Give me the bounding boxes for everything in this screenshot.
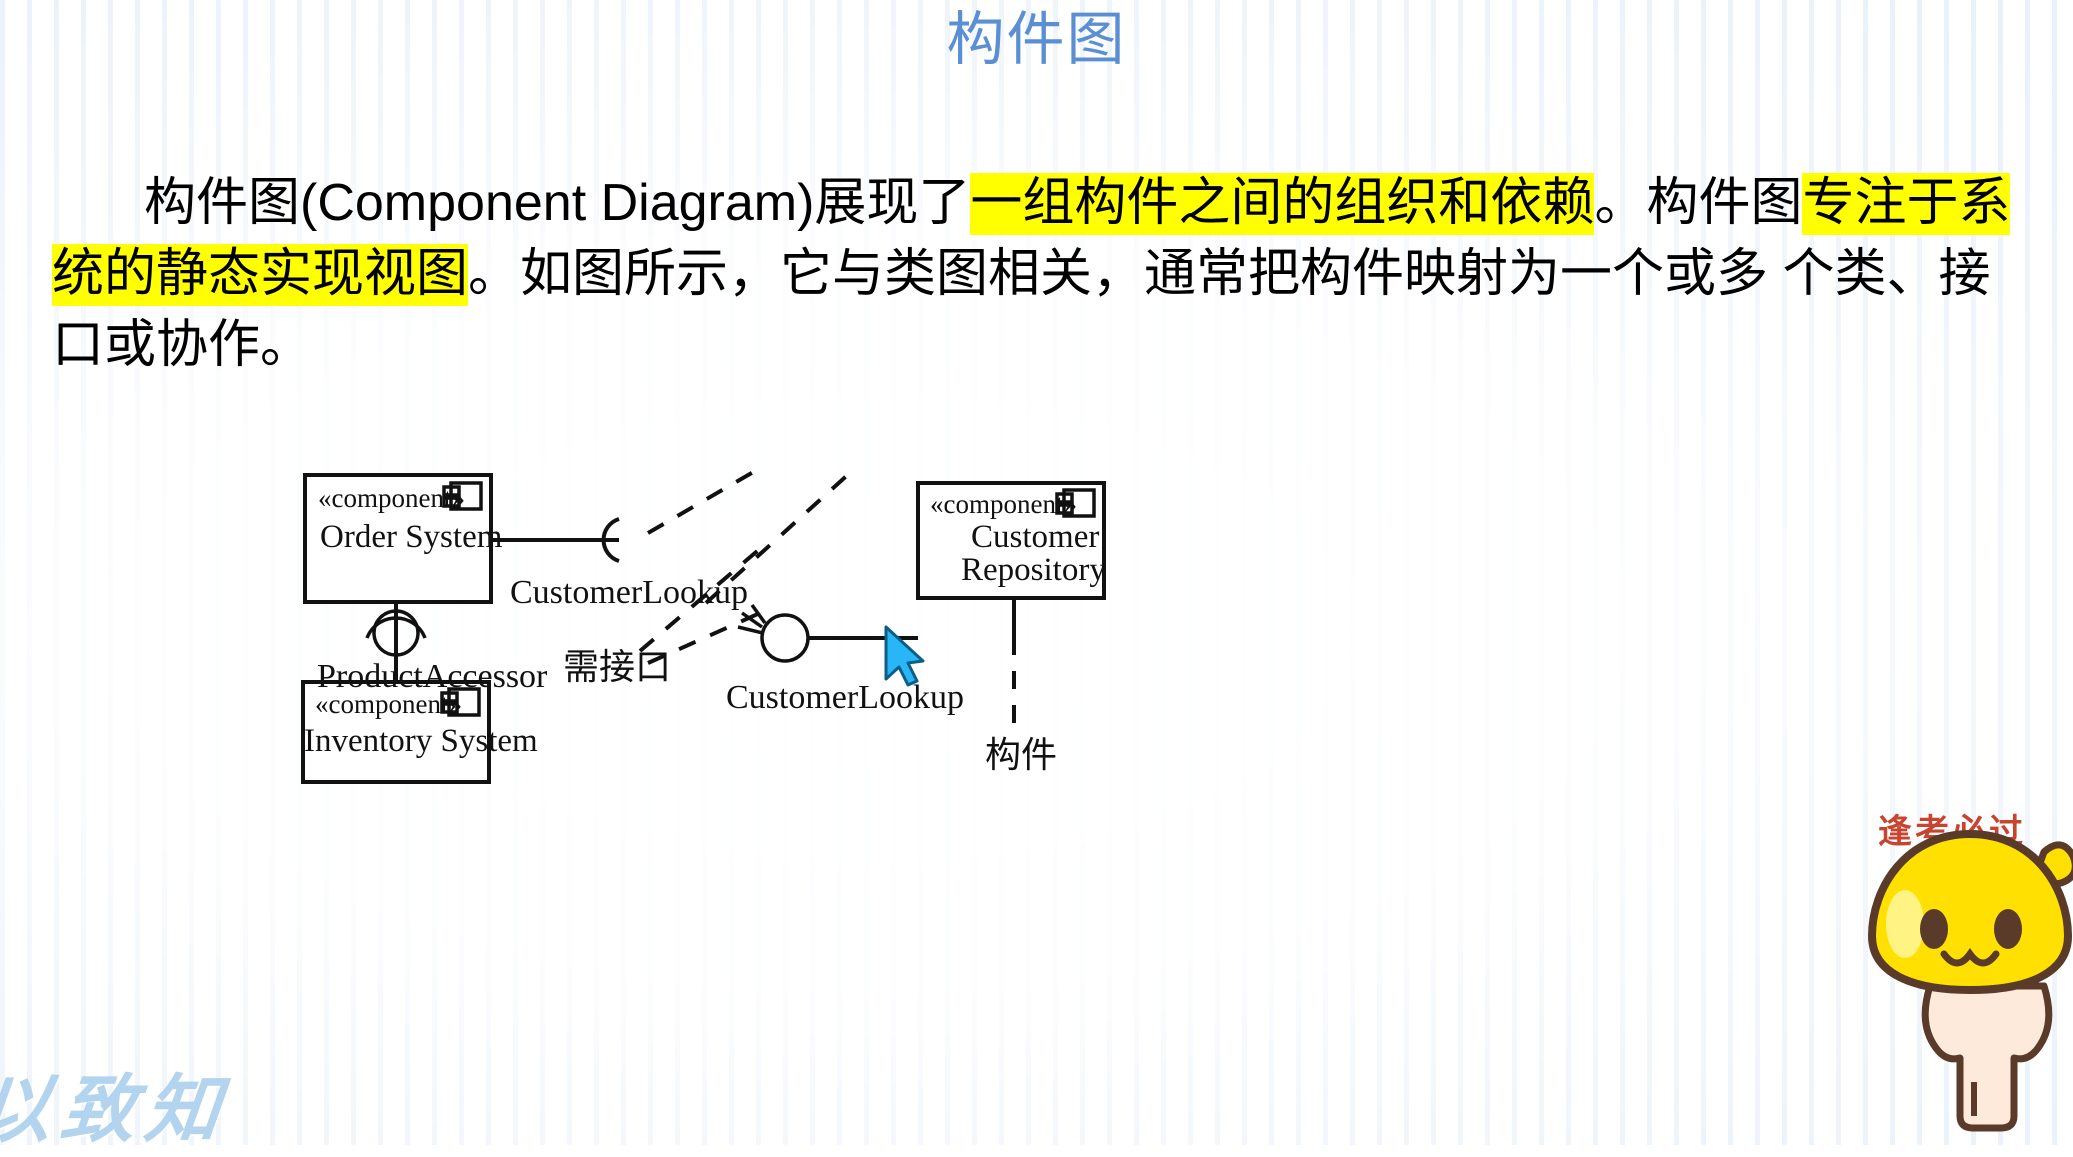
component-customer-repository[interactable]: «component» Customer Repository [918,483,1106,598]
mascot-cap-highlight [1886,890,1924,958]
customer-repository-stereotype: «component» [930,489,1077,519]
mascot-stem [1925,986,2049,1128]
lollipop-ball [762,615,808,661]
provided-interface-label: CustomerLookup [510,574,748,611]
customer-repository-name-line1: Customer [971,519,1099,555]
uml-component-diagram: .box { fill:#ffffff; stroke:#111111; str… [0,455,1560,1065]
paragraph-segment-3: 。构件图 [1594,174,1802,232]
body-paragraph: 构件图(Component Diagram)展现了一组构件之间的组织和依赖。构件… [52,168,2037,381]
arrow-feather-mid [738,627,763,633]
interface-customer-lookup-required[interactable]: CustomerLookup [726,605,964,716]
interface-product-accessor[interactable]: ProductAccessor [317,602,548,695]
mascot-eye-right [1994,909,2022,949]
page-title: 构件图 [0,4,2073,76]
mascot-eye-left [1920,909,1948,949]
paragraph-highlight-1: 一组构件之间的组织和依赖 [970,173,1594,235]
component-annotation-label: 构件 [985,734,1057,775]
annotation-required-interface: 需接口 [563,547,762,687]
paragraph-segment-1: 构件图(Component Diagram)展现了 [144,174,970,232]
order-system-name: Order System [320,519,503,555]
inventory-system-name: Inventory System [304,723,538,759]
required-interface-annotation-label: 需接口 [563,646,671,687]
annotation-component: 构件 [985,598,1057,775]
customer-repository-name-line2: Repository [961,552,1106,588]
component-order-system[interactable]: «component» Order System [305,475,503,602]
dependency-annotation-label: 依赖 [862,455,934,457]
provided-interface-leader [648,467,762,533]
annotation-provided-interface: 供接口 [648,455,806,533]
calligraphy-watermark: 以致知 [0,1050,236,1157]
product-accessor-label: ProductAccessor [317,658,548,695]
required-interface-label: CustomerLookup [726,679,964,716]
mouse-pointer-icon [886,627,923,685]
component-inventory-system[interactable]: «component» Inventory System [303,682,538,782]
mascot-mushroom [1868,790,2073,1145]
